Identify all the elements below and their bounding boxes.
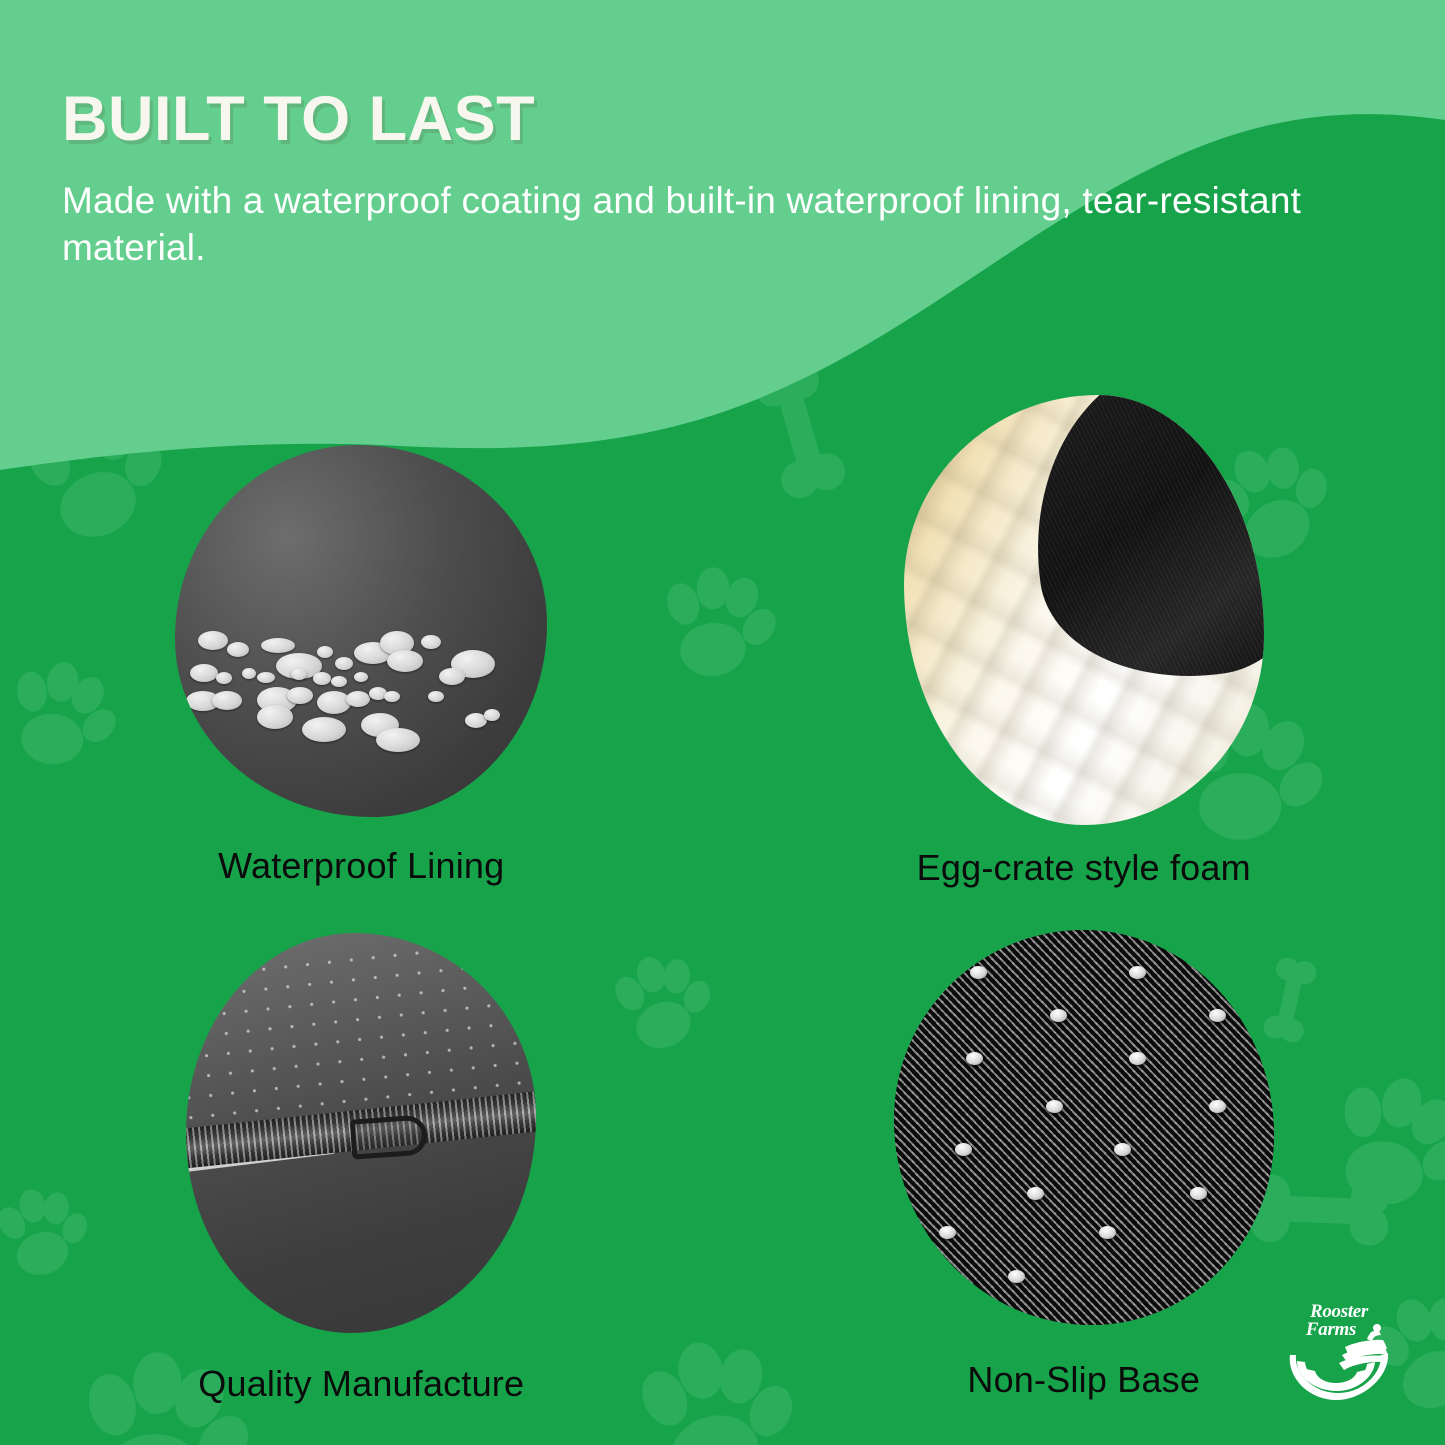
poster-canvas: BUILT TO LAST Made with a waterproof coa… [0, 0, 1445, 1445]
fabric-texture [175, 445, 547, 817]
page-title: BUILT TO LAST [62, 88, 1385, 151]
feature-image-egg-crate-foam [904, 395, 1264, 825]
feature-caption: Egg-crate style foam [917, 847, 1251, 889]
header-block: BUILT TO LAST Made with a waterproof coa… [0, 0, 1445, 330]
feature-egg-crate-foam: Egg-crate style foam [723, 405, 1445, 925]
feature-waterproof-lining: Waterproof Lining [0, 405, 723, 925]
waterproof-lining-photo [175, 445, 547, 817]
non-slip-base-photo [894, 930, 1274, 1325]
feature-quality-manufacture: Quality Manufacture [0, 925, 723, 1445]
feature-caption: Non-Slip Base [967, 1359, 1200, 1401]
feature-image-waterproof-lining [175, 445, 547, 817]
feature-image-non-slip-base [894, 930, 1274, 1325]
egg-crate-foam-photo [904, 395, 1264, 825]
brand-name-line2: Farms [1257, 1321, 1405, 1339]
feature-caption: Waterproof Lining [218, 845, 504, 887]
feature-image-quality-manufacture [186, 933, 536, 1333]
feature-caption: Quality Manufacture [198, 1363, 524, 1405]
brand-logo: Rooster Farms [1273, 1303, 1405, 1407]
zipper-pull-icon [349, 1114, 428, 1159]
quality-manufacture-photo [186, 933, 536, 1333]
woven-mesh-texture [894, 930, 1274, 1325]
feature-grid: Waterproof Lining Egg-crate style foam [0, 405, 1445, 1445]
brand-logo-text: Rooster Farms [1273, 1303, 1405, 1339]
page-subtitle: Made with a waterproof coating and built… [62, 177, 1352, 272]
